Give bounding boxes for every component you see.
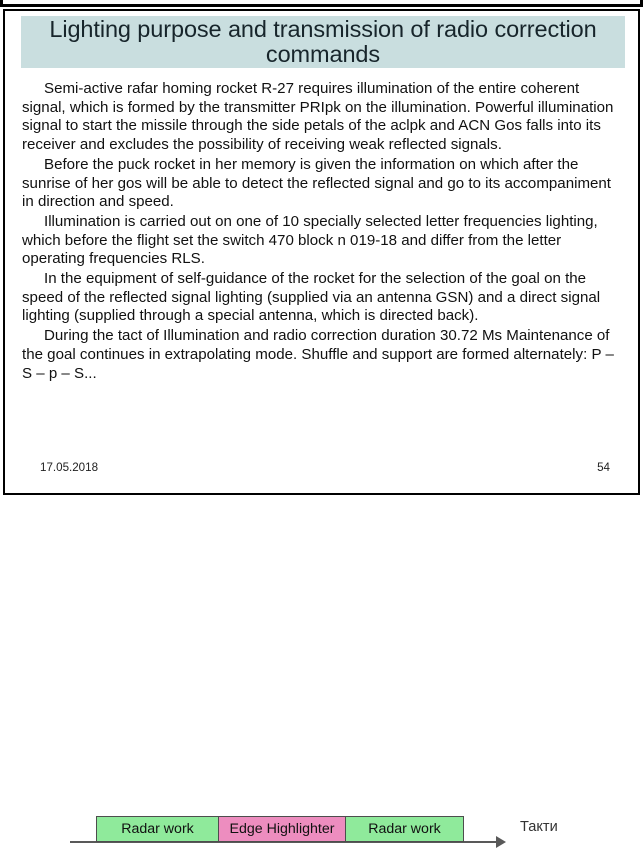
footer-date: 17.05.2018 [40, 461, 98, 474]
timeline-axis-label: Такти [520, 819, 558, 835]
body-paragraph: Before the puck rocket in her memory is … [22, 156, 626, 212]
body-paragraph: Semi-active rafar homing rocket R-27 req… [22, 80, 626, 155]
timeline-block: Radar work [345, 816, 464, 842]
body-paragraph: In the equipment of self-guidance of the… [22, 270, 626, 326]
timeline-block: Radar work [96, 816, 219, 842]
timing-diagram: Radar work Edge Highlighter Radar work Т… [0, 405, 643, 453]
page-title: Lighting purpose and transmission of rad… [21, 17, 625, 67]
body-paragraph: Illumination is carried out on one of 10… [22, 213, 626, 269]
slide-body-text: Semi-active rafar homing rocket R-27 req… [22, 80, 626, 384]
footer-page-number: 54 [570, 461, 610, 474]
top-white-strip [3, 0, 640, 4]
timeline-block: Edge Highlighter [218, 816, 346, 842]
body-paragraph: During the tact of Illumination and radi… [22, 327, 626, 383]
slide-frame: Lighting purpose and transmission of rad… [0, 0, 643, 500]
timeline-arrow-icon [496, 836, 506, 848]
slide-title-bar: Lighting purpose and transmission of rad… [21, 16, 625, 68]
